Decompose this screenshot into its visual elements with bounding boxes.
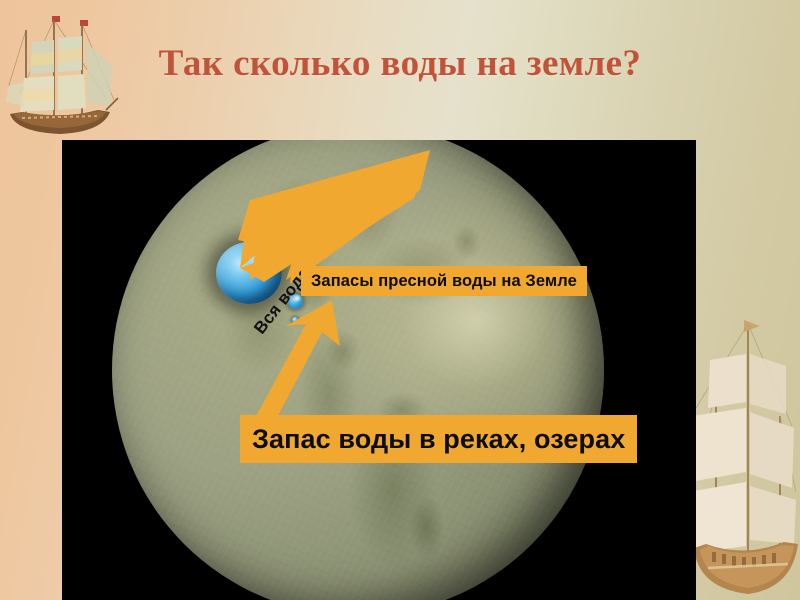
globe-relief-layer: [112, 140, 604, 600]
all-water-sphere: [216, 242, 282, 304]
rivers-lakes-sphere: [292, 317, 298, 323]
fresh-water-banner-label: Запасы пресной воды на Земле: [311, 272, 577, 291]
earth-water-comparison-photo: Вся вода Запасы пресной воды на Земле За…: [62, 140, 696, 600]
fresh-water-banner: Запасы пресной воды на Земле: [301, 266, 587, 296]
slide-title: Так сколько воды на земле?: [0, 44, 800, 85]
rivers-lakes-banner: Запас воды в реках, озерах: [240, 415, 637, 463]
sailing-ship-icon: [688, 296, 800, 600]
slide-canvas: Так сколько воды на земле?: [0, 0, 800, 600]
earth-globe: [112, 140, 604, 600]
rivers-lakes-banner-label: Запас воды в реках, озерах: [252, 424, 625, 455]
